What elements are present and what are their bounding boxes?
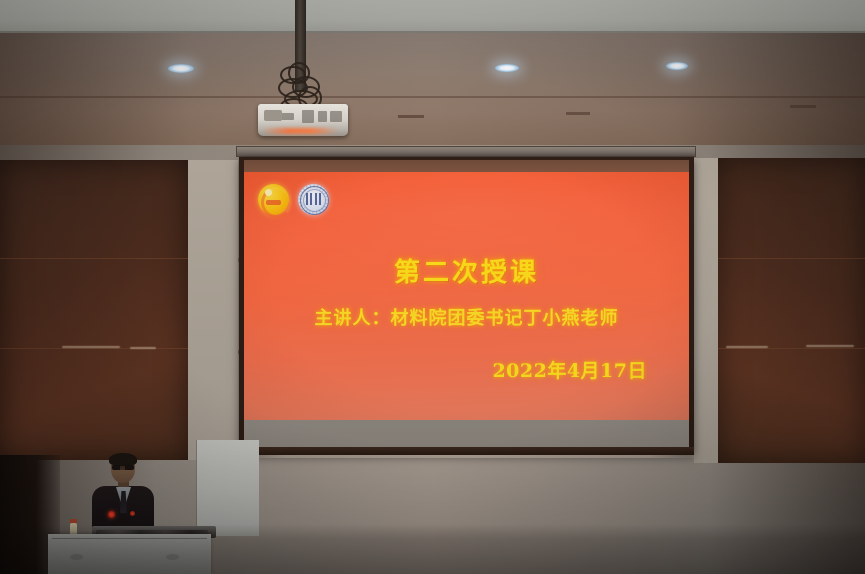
soffit-shading-overlay bbox=[0, 33, 865, 145]
screen-lower-rail bbox=[228, 455, 706, 458]
university-seal-emblem-icon bbox=[298, 184, 329, 215]
slide-title: 第二次授课 bbox=[244, 252, 689, 289]
wood-panel-left bbox=[0, 160, 188, 460]
slide-logos bbox=[258, 184, 329, 215]
ceiling-slab bbox=[0, 0, 865, 33]
lectern-body bbox=[48, 534, 211, 574]
speaker-badge-secondary bbox=[130, 511, 135, 516]
downlight-2-icon bbox=[495, 64, 519, 72]
soffit-seam-line bbox=[0, 96, 865, 98]
speaker-badge bbox=[108, 511, 115, 518]
projector-light-glow bbox=[262, 128, 338, 134]
soffit-mark-right bbox=[790, 105, 816, 108]
screen-surface: 第二次授课 主讲人：材料院团委书记丁小燕老师 2022年4月17日 bbox=[244, 160, 689, 449]
slide-content: 第二次授课 主讲人：材料院团委书记丁小燕老师 2022年4月17日 bbox=[244, 172, 689, 420]
projector-lens-icon bbox=[264, 110, 282, 121]
projection-top-band bbox=[244, 160, 689, 172]
screen-housing-valance bbox=[236, 146, 696, 157]
lecture-hall-scene: 第二次授课 主讲人：材料院团委书记丁小燕老师 2022年4月17日 bbox=[0, 0, 865, 574]
slide-date: 2022年4月17日 bbox=[492, 356, 647, 383]
slide-subtitle: 主讲人：材料院团委书记丁小燕老师 bbox=[244, 304, 689, 330]
soffit-mark-mid bbox=[566, 112, 590, 115]
screen-blank-area bbox=[244, 420, 689, 449]
wall-strip-right bbox=[694, 158, 720, 463]
communist-youth-league-emblem-icon bbox=[258, 184, 289, 215]
screen-weight-bar bbox=[239, 447, 694, 455]
downlight-1-icon bbox=[168, 64, 194, 73]
glasses-icon bbox=[112, 465, 134, 470]
whiteboard-panel bbox=[196, 440, 259, 536]
wall-strip-left bbox=[188, 160, 238, 460]
wood-panel-right bbox=[718, 158, 865, 463]
downlight-3-icon bbox=[666, 62, 688, 70]
soffit-mark-left bbox=[398, 115, 424, 118]
